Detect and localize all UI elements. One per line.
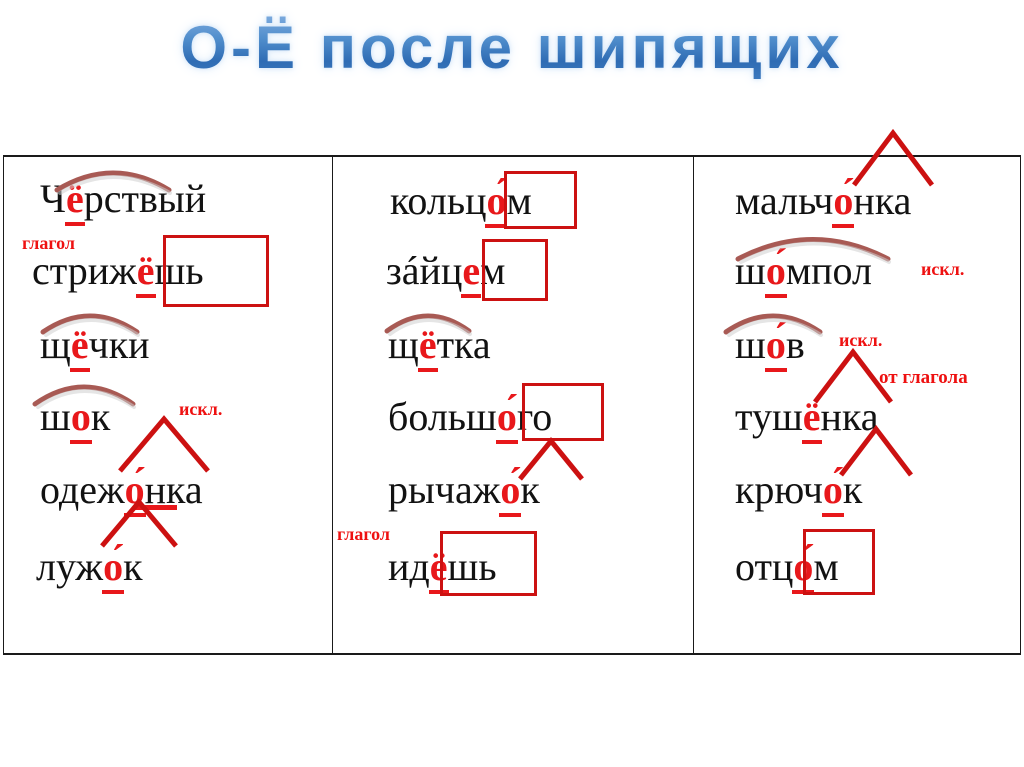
word-prefix: крюч [735, 467, 823, 512]
word-prefix: рычаж [388, 467, 500, 512]
word-prefix: кольц [390, 178, 486, 223]
word-prefix: стриж [32, 248, 137, 293]
table-column-root: Чёрствый глагол стрижёшь щёчки шок [4, 157, 332, 653]
word-suffix: к [123, 544, 142, 589]
ending-box-mark [163, 235, 269, 307]
highlighted-vowel: о́ [103, 547, 123, 587]
word-prefix: ид [388, 544, 430, 589]
root-arc-mark [54, 159, 172, 193]
word-table: Чёрствый глагол стрижёшь щёчки шок [3, 155, 1021, 655]
suffix-caret-mark [837, 425, 915, 477]
highlighted-vowel: е [462, 251, 480, 291]
ending-box-mark [522, 383, 604, 441]
highlighted-vowel: ё [137, 251, 155, 291]
suffix-caret-mark [850, 129, 936, 187]
column-divider-3 [1020, 157, 1021, 653]
root-arc-mark [384, 304, 472, 334]
table-row: мальчо́нка [735, 181, 911, 221]
suffix-caret-mark [98, 498, 180, 548]
page-title: О-Ё после шипящих [0, 16, 1024, 79]
word-prefix: луж [36, 544, 103, 589]
word-prefix: больш [388, 394, 497, 439]
root-arc-mark [735, 224, 891, 262]
root-arc-mark [723, 303, 823, 335]
annotation-label: глагол [337, 525, 390, 543]
annotation-label: искл. [921, 260, 964, 278]
suffix-caret-mark [116, 415, 212, 473]
ending-box-mark [803, 529, 875, 595]
root-arc-mark [40, 303, 140, 335]
table-column-mixed: мальчо́нка шо́мпол искл. шо́в [693, 157, 1020, 653]
root-arc-mark [32, 373, 136, 407]
word-prefix: мальч [735, 178, 833, 223]
highlighted-vowel: о́ [833, 181, 853, 221]
ending-box-mark [440, 531, 537, 596]
suffix-caret-mark [516, 437, 586, 481]
table-column-ending: кольцо́м зáйцем щётка большо́го рычажо́к [332, 157, 693, 653]
word-prefix: отц [735, 544, 793, 589]
word-prefix: туш [735, 394, 803, 439]
ending-box-mark [504, 171, 577, 229]
annotation-label: от глагола [879, 368, 968, 387]
table-row: лужо́к [36, 547, 143, 587]
word-prefix: зáйц [386, 248, 462, 293]
ending-box-mark [482, 239, 548, 301]
annotation-label: искл. [839, 331, 882, 349]
highlighted-vowel: о́ [497, 397, 517, 437]
